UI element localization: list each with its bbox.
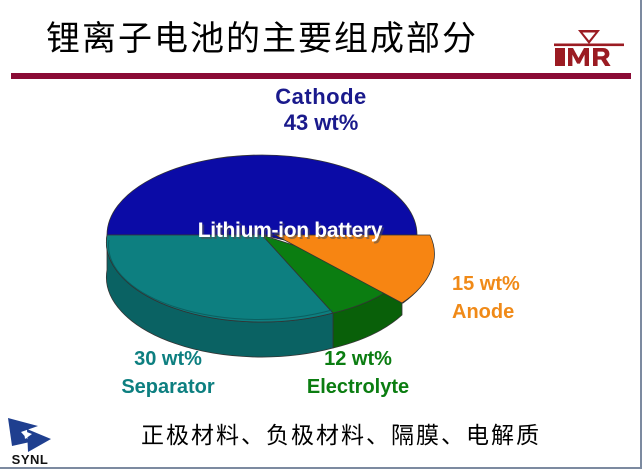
label-separator-name: Separator (121, 373, 214, 401)
label-electrolyte: 12 wt% Electrolyte (307, 345, 409, 401)
label-separator-value: 30 wt% (121, 345, 214, 373)
label-cathode: Cathode 43 wt% (0, 84, 642, 136)
label-anode: 15 wt% Anode (452, 270, 520, 326)
title-divider (11, 73, 631, 79)
bottom-caption: 正极材料、负极材料、隔膜、电解质 (0, 416, 642, 450)
label-electrolyte-value: 12 wt% (307, 345, 409, 373)
slide-canvas: 锂离子电池的主要组成部分 (0, 0, 642, 469)
label-anode-name: Anode (452, 298, 520, 326)
label-separator: 30 wt% Separator (121, 345, 214, 401)
label-cathode-name: Cathode (0, 84, 642, 110)
label-electrolyte-name: Electrolyte (307, 373, 409, 401)
label-anode-value: 15 wt% (452, 270, 520, 298)
label-cathode-value: 43 wt% (0, 110, 642, 136)
imr-logo (552, 27, 626, 69)
page-title: 锂离子电池的主要组成部分 (46, 12, 546, 66)
pie-chart (100, 140, 470, 360)
synl-logo-text: SYNL (4, 452, 56, 467)
